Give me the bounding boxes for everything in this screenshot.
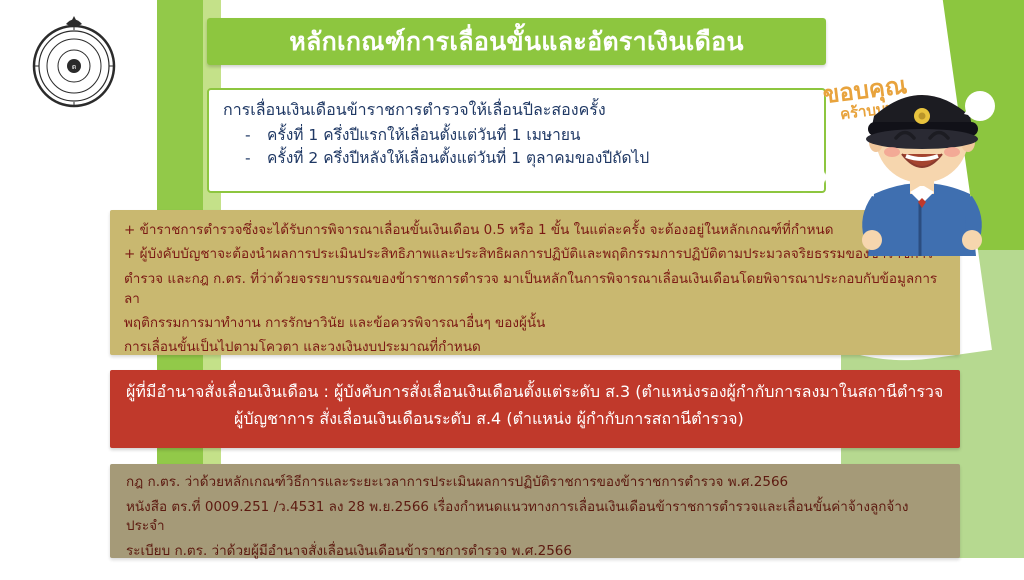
intro-bullet-2-dash: - [245,147,267,170]
page-title: หลักเกณฑ์การเลื่อนขั้นและอัตราเงินเดือน [289,29,744,54]
authority-block: ผู้ที่มีอำนาจสั่งเลื่อนเงินเดือน : ผู้บั… [110,370,960,448]
intro-bullet-1-dash: - [245,124,267,147]
intro-bullet-2: - ครั้งที่ 2 ครึ่งปีหลังให้เลื่อนตั้งแต่… [245,147,810,170]
sparkle-icon: ✦ [818,168,831,187]
intro-bullet-1-text: ครั้งที่ 1 ครึ่งปีแรกให้เลื่อนตั้งแต่วัน… [267,124,581,147]
slide-canvas: ต หลักเกณฑ์การเลื่อนขั้นและอัตราเงินเดือ… [0,0,1024,580]
intro-heading: การเลื่อนเงินเดือนข้าราชการตำรวจให้เลื่อ… [223,99,810,121]
criteria-line-2: + ผู้บังคับบัญชาจะต้องนำผลการประเมินประส… [124,244,946,264]
royal-thai-police-emblem-icon: ต [22,10,126,114]
criteria-line-1: + ข้าราชการตำรวจซึ่งจะได้รับการพิจารณาเล… [124,220,946,240]
intro-bullet-1: - ครั้งที่ 1 ครึ่งปีแรกให้เลื่อนตั้งแต่ว… [245,124,810,147]
reference-block: กฎ ก.ตร. ว่าด้วยหลักเกณฑ์วิธีการและระยะเ… [110,464,960,558]
police-mascot-illustration [832,44,1012,259]
intro-block: การเลื่อนเงินเดือนข้าราชการตำรวจให้เลื่อ… [207,88,826,193]
criteria-line-3: ตำรวจ และกฎ ก.ตร. ที่ว่าด้วยจรรยาบรรณของ… [124,269,946,310]
authority-line-1: ผู้ที่มีอำนาจสั่งเลื่อนเงินเดือน : ผู้บั… [126,380,944,403]
intro-bullet-2-text: ครั้งที่ 2 ครึ่งปีหลังให้เลื่อนตั้งแต่วั… [267,147,649,170]
reference-line-3: ระเบียบ ก.ตร. ว่าด้วยผู้มีอำนาจสั่งเลื่อ… [126,542,944,561]
authority-line-2: ผู้บัญชาการ สั่งเลื่อนเงินเดือนระดับ ส.4… [234,407,944,430]
reference-line-1: กฎ ก.ตร. ว่าด้วยหลักเกณฑ์วิธีการและระยะเ… [126,473,944,492]
svg-text:ต: ต [72,63,77,71]
slide-title-bar: หลักเกณฑ์การเลื่อนขั้นและอัตราเงินเดือน [207,18,826,65]
sparkle-icon: ✦ [800,192,809,205]
background-bottom-white-strip [0,558,1024,580]
sparkle-icon: ✦ [846,186,856,200]
criteria-line-5: การเลื่อนขั้นเป็นไปตามโควตา และวงเงินงบป… [124,337,946,357]
reference-line-2: หนังสือ ตร.ที่ 0009.251 /ว.4531 ลง 28 พ.… [126,498,944,536]
criteria-line-4: พฤติกรรมการมาทำงาน การรักษาวินัย และข้อค… [124,313,946,333]
